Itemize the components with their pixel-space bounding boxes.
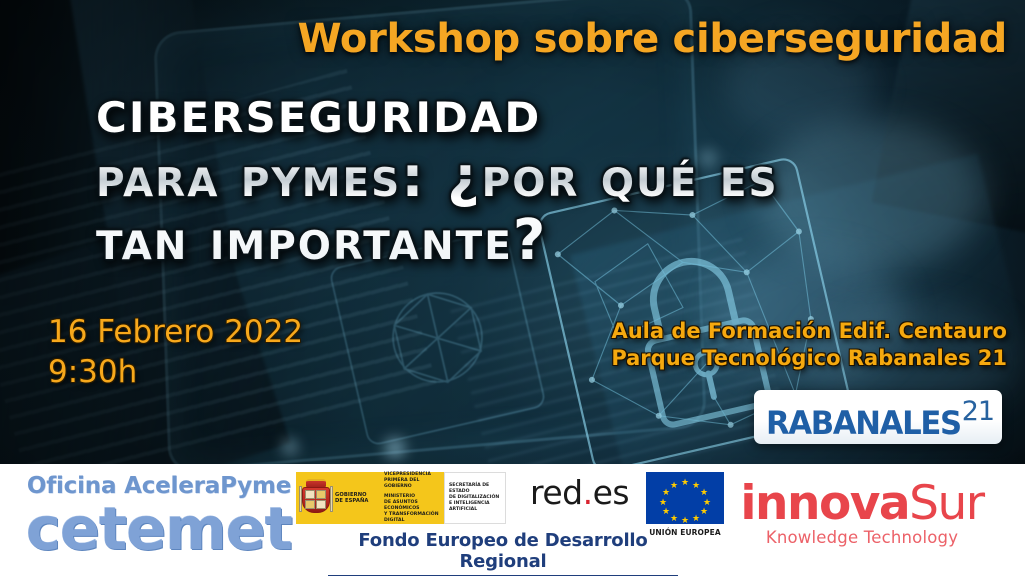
ministerio-line3: Y TRANSFORMACIÓN DIGITAL <box>384 512 440 524</box>
eu-flag-icon: ★ ★ ★ ★ ★ ★ ★ ★ ★ ★ ★ ★ <box>646 472 724 524</box>
event-time: 9:30h <box>48 353 303 393</box>
page-title: Ciberseguridad para pymes: ¿por qué es t… <box>96 82 976 269</box>
secretaria-line1: SECRETARÍA DE ESTADO <box>449 483 501 495</box>
sponsor-logo-bar: Oficina AceleraPyme cetemet GOBIERNO DE … <box>0 464 1025 581</box>
gobierno-de-espana-logo: GOBIERNO DE ESPAÑA VICEPRESIDENCIA PRIME… <box>296 472 444 524</box>
venue-line-1: Aula de Formación Edif. Centauro <box>611 318 1007 345</box>
redes-part1: red <box>530 473 583 512</box>
rabanales21-logo: RABANALES 21 <box>754 390 1002 444</box>
secretaria-line3: E INTELIGENCIA ARTIFICIAL <box>449 501 501 513</box>
feder-text-block: Fondo Europeo de Desarrollo Regional “Un… <box>328 530 678 581</box>
feder-line1: Fondo Europeo de Desarrollo Regional <box>328 530 678 576</box>
european-union-logo: ★ ★ ★ ★ ★ ★ ★ ★ ★ ★ ★ ★ UNIÓN EUROPEA <box>646 472 724 524</box>
event-venue: Aula de Formación Edif. Centauro Parque … <box>611 318 1007 373</box>
cetemet-logo: Oficina AceleraPyme cetemet <box>14 473 304 557</box>
spain-coat-of-arms-icon <box>300 479 332 517</box>
headline-line-1: Ciberseguridad <box>96 82 976 143</box>
rabanales-number: 21 <box>962 398 994 425</box>
ministerio-line2: DE ASUNTOS ECONÓMICOS <box>384 500 440 512</box>
vicepresidencia-line2: PRIMERA DEL GOBIERNO <box>384 478 440 490</box>
cetemet-wordmark: cetemet <box>14 501 304 557</box>
headline-line-2: para pymes: ¿por qué es <box>96 149 976 206</box>
venue-line-2: Parque Tecnológico Rabanales 21 <box>611 345 1007 372</box>
event-date: 16 Febrero 2022 <box>48 313 303 353</box>
redes-part2: es <box>593 473 630 512</box>
event-datetime: 16 Febrero 2022 9:30h <box>48 313 303 392</box>
poster-canvas: Workshop sobre ciberseguridad Cibersegur… <box>0 0 1025 581</box>
secretaria-estado-logo: SECRETARÍA DE ESTADO DE DIGITALIZACIÓN E… <box>444 472 506 524</box>
gobierno-label-line2: DE ESPAÑA <box>335 498 381 504</box>
gobierno-label: GOBIERNO DE ESPAÑA <box>335 492 381 505</box>
innovasur-name-bold: innova <box>740 476 909 531</box>
secretaria-label: SECRETARÍA DE ESTADO DE DIGITALIZACIÓN E… <box>449 483 501 513</box>
rabanales-wordmark: RABANALES <box>766 407 961 439</box>
redes-dot: . <box>583 473 593 512</box>
ministerio-label: VICEPRESIDENCIA PRIMERA DEL GOBIERNO MIN… <box>384 472 440 524</box>
redes-logo: red.es <box>530 476 629 509</box>
headline-line-3: tan importante? <box>96 212 976 269</box>
workshop-kicker: Workshop sobre ciberseguridad <box>0 16 1007 62</box>
innovasur-logo: innovaSur Knowledge Technology <box>717 480 1007 547</box>
innovasur-wordmark: innovaSur <box>717 480 1007 527</box>
innovasur-name-light: Sur <box>909 476 983 531</box>
